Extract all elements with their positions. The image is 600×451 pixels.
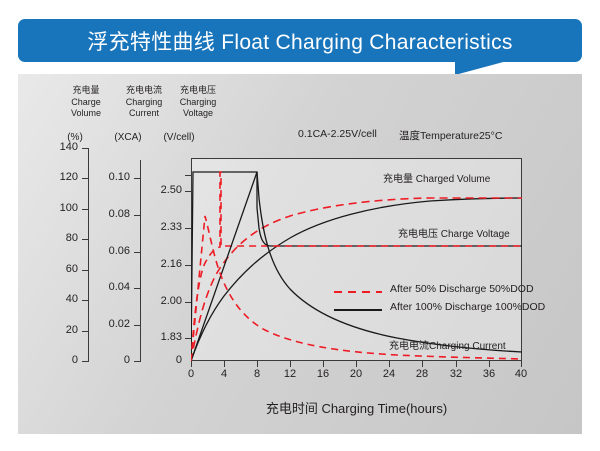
ylabel-cvolt-250: 2.50 (140, 184, 182, 196)
unit-charging-current: (XCA) (104, 132, 152, 143)
ytick-cc-010 (134, 178, 140, 179)
ylabel-cc-010: 0.10 (88, 171, 130, 183)
ylabel-cvolt-233: 2.33 (140, 221, 182, 233)
ylabel-cc-006: 0.06 (88, 245, 130, 257)
condition-temperature: 温度Temperature25°C (399, 128, 502, 143)
legend-swatch-dashed-icon (334, 291, 382, 293)
header: 浮充特性曲线 Float Charging Characteristics (18, 19, 582, 71)
curve-charging-voltage-100dod (191, 172, 522, 361)
ylabel-cv-40: 40 (40, 293, 78, 305)
xtick-4 (224, 361, 225, 367)
ylabel-cv-20: 20 (40, 324, 78, 336)
xlabel-28: 28 (410, 368, 434, 380)
xtick-16 (323, 361, 324, 367)
xlabel-40: 40 (509, 368, 533, 380)
ylabel-cc-004: 0.04 (88, 281, 130, 293)
ytick-cv-20 (82, 331, 88, 332)
legend-label-50dod: After 50% Discharge 50%DOD (390, 283, 534, 295)
ylabel-cc-0: 0 (88, 354, 130, 366)
ytick-cv-40 (82, 300, 88, 301)
ylabel-cc-008: 0.08 (88, 208, 130, 220)
legend: After 50% Discharge 50%DOD After 100% Di… (334, 283, 534, 319)
xtick-20 (356, 361, 357, 367)
xtick-8 (257, 361, 258, 367)
ytick-cc-008 (134, 215, 140, 216)
xlabel-20: 20 (344, 368, 368, 380)
ylabel-cv-120: 120 (40, 171, 78, 183)
xlabel-36: 36 (477, 368, 501, 380)
ylabel-cvolt-216: 2.16 (140, 258, 182, 270)
ylabel-cv-100: 100 (40, 202, 78, 214)
ylabel-cvolt-183: 1.83 (140, 331, 182, 343)
ylabel-cv-140: 140 (40, 141, 78, 153)
ylabel-cv-60: 60 (40, 263, 78, 275)
label-charge-voltage: 充电电压 Charge Voltage (398, 225, 510, 240)
xlabel-8: 8 (245, 368, 269, 380)
ytick-cv-80 (82, 239, 88, 240)
xlabel-4: 4 (212, 368, 236, 380)
xtick-32 (456, 361, 457, 367)
ylabel-cvolt-0: 0 (140, 354, 182, 366)
ylabel-cc-002: 0.02 (88, 318, 130, 330)
ylabel-cv-80: 80 (40, 232, 78, 244)
xtick-28 (422, 361, 423, 367)
ylabel-cvolt-200: 2.00 (140, 295, 182, 307)
ytick-cc-002 (134, 325, 140, 326)
axis-caption-charge-volume: 充电量 Charge Volume (58, 85, 114, 120)
curve-charging-voltage-50dod (191, 172, 522, 361)
ytick-cv-60 (82, 270, 88, 271)
condition-rate: 0.1CA-2.25V/cell (298, 128, 377, 140)
ytick-cv-140 (82, 148, 88, 149)
ytick-cc-004 (134, 288, 140, 289)
xtick-36 (489, 361, 490, 367)
legend-item-100dod: After 100% Discharge 100%DOD (334, 301, 534, 319)
xaxis-title: 充电时间 Charging Time(hours) (191, 398, 522, 417)
xlabel-12: 12 (278, 368, 302, 380)
xtick-40 (521, 361, 522, 367)
legend-swatch-solid-icon (334, 309, 382, 311)
legend-label-100dod: After 100% Discharge 100%DOD (390, 301, 545, 313)
label-charged-volume: 充电量 Charged Volume (383, 170, 490, 185)
curve-layer (191, 158, 522, 361)
xtick-0 (191, 361, 192, 367)
xtick-12 (290, 361, 291, 367)
xlabel-16: 16 (311, 368, 335, 380)
ytick-cc-006 (134, 252, 140, 253)
axis-caption-charging-current: 充电电流 Charging Current (116, 85, 172, 120)
unit-charging-voltage: (V/cell) (152, 132, 206, 143)
xtick-24 (389, 361, 390, 367)
chart-page: 浮充特性曲线 Float Charging Characteristics 充电… (0, 0, 600, 451)
ylabel-cv-0: 0 (40, 354, 78, 366)
xlabel-24: 24 (377, 368, 401, 380)
label-charging-current: 充电电流Charging Current (389, 337, 506, 352)
header-bubble-tail (455, 61, 507, 75)
xlabel-0: 0 (179, 368, 203, 380)
legend-item-50dod: After 50% Discharge 50%DOD (334, 283, 534, 301)
xlabel-32: 32 (444, 368, 468, 380)
page-title: 浮充特性曲线 Float Charging Characteristics (18, 19, 582, 62)
curve-charging-current-100dod (191, 172, 522, 361)
axis-caption-charging-voltage: 充电电压 Charging Voltage (168, 85, 228, 120)
